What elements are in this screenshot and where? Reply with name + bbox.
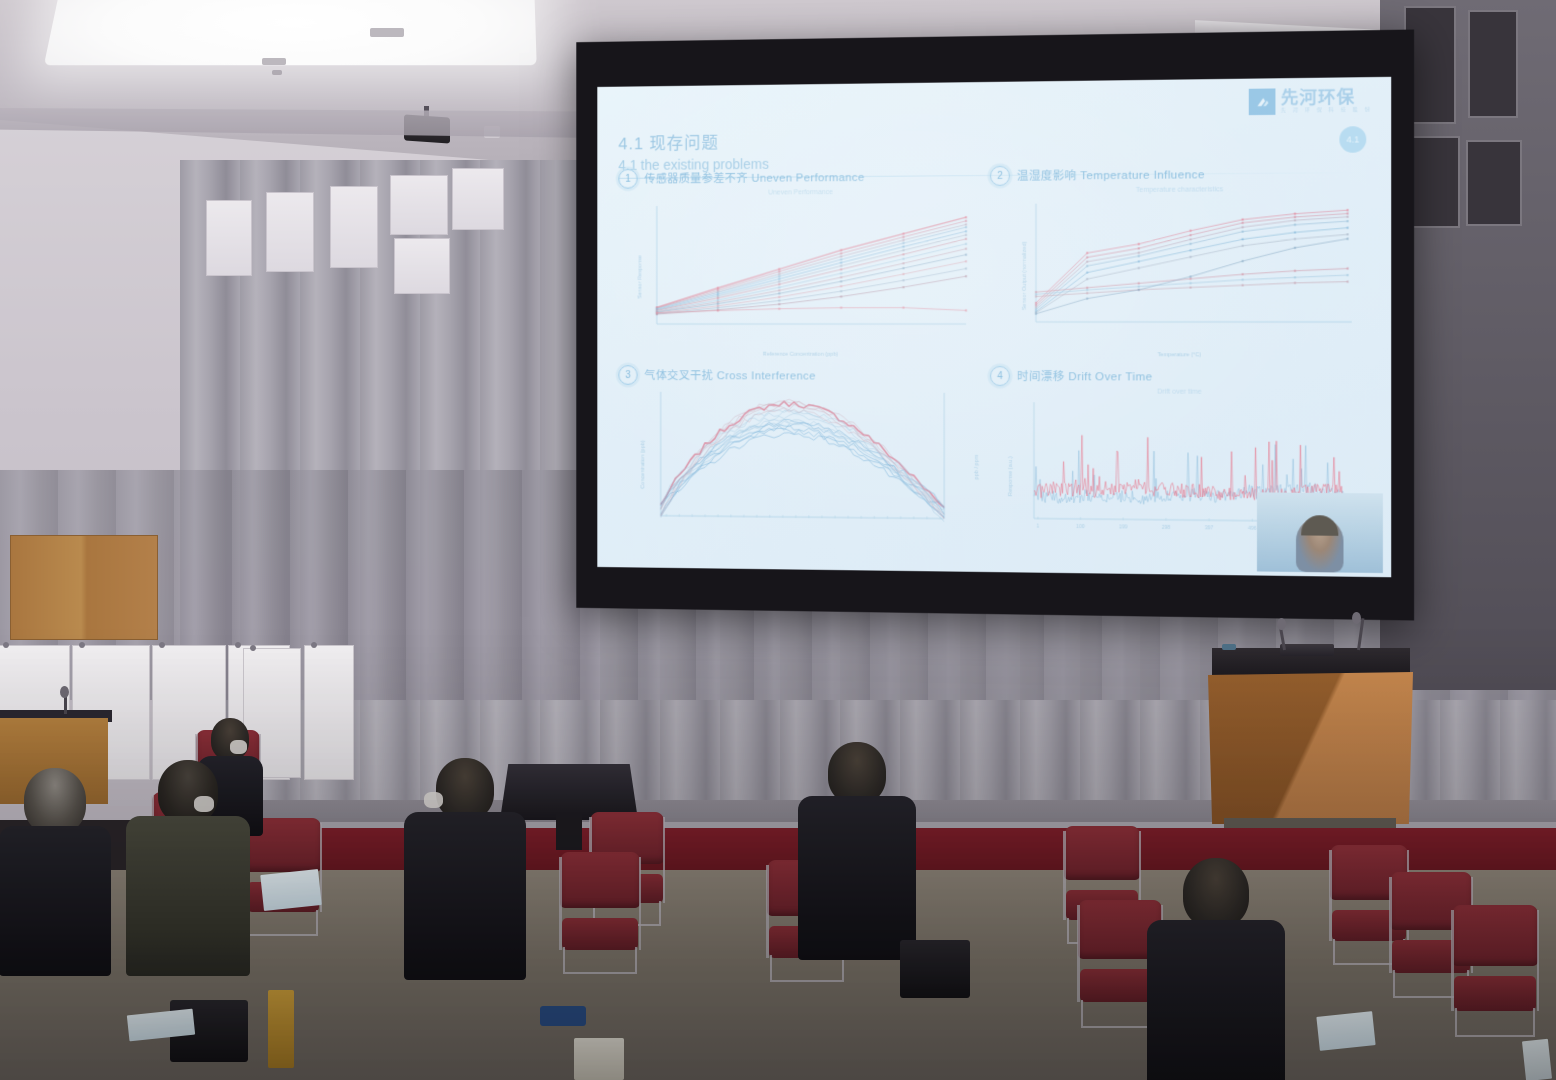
document-sheet [1316, 1011, 1375, 1051]
acoustic-panel [390, 175, 448, 235]
chart3-ylabel: Concentration (ppb) [640, 440, 646, 489]
cell-header: 4 时间漂移 Drift Over Time [990, 366, 1373, 387]
ceiling-vent [272, 70, 282, 75]
briefcase [900, 940, 970, 998]
cell-number-badge: 1 [618, 169, 637, 189]
projection-screen: 先河环保 先 河 环 保 科 技 股 份 4.1 4.1 现存问题 4.1 th… [576, 30, 1414, 621]
partition-screen [304, 645, 354, 780]
screen-surface: 先河环保 先 河 环 保 科 技 股 份 4.1 4.1 现存问题 4.1 th… [597, 77, 1391, 577]
presentation-slide: 先河环保 先 河 环 保 科 技 股 份 4.1 4.1 现存问题 4.1 th… [597, 77, 1391, 577]
audience-person [800, 742, 914, 954]
brand-mark-icon [1249, 88, 1276, 115]
audience-person [1150, 858, 1282, 1080]
video-person-hair [1301, 515, 1338, 536]
svg-text:199: 199 [1119, 524, 1128, 530]
acoustic-panel [452, 168, 504, 230]
wooden-door[interactable] [10, 535, 158, 640]
audience-person [128, 760, 248, 970]
chart4-ylabel: Response (a.u.) [1008, 456, 1014, 496]
scene-root: 先河环保 先 河 环 保 科 技 股 份 4.1 4.1 现存问题 4.1 th… [0, 0, 1556, 1080]
svg-text:496: 496 [1248, 526, 1257, 532]
ceiling-skylight [44, 0, 537, 65]
wall-niche [1466, 140, 1522, 226]
wooden-podium [1208, 672, 1413, 824]
svg-text:100: 100 [1076, 524, 1085, 530]
brand-logo-text: 先河环保 先 河 环 保 科 技 股 份 [1281, 88, 1373, 113]
brand-name-cn: 先河环保 [1281, 88, 1373, 106]
cell-header: 2 温湿度影响 Temperature Influence [990, 163, 1373, 186]
brand-name-sub: 先 河 环 保 科 技 股 份 [1281, 108, 1373, 114]
chart-cell-uneven-performance: 1 传感器质量参差不齐 Uneven Performance Uneven Pe… [618, 166, 986, 362]
audience-person [0, 768, 110, 968]
acoustic-panel [266, 192, 314, 272]
chart-temperature-influence: Temperature (°C) Sensor Output (normaliz… [990, 193, 1373, 356]
chart-cell-temperature-influence: 2 温湿度影响 Temperature Influence Temperatur… [990, 163, 1373, 363]
audience-person [406, 758, 524, 974]
wall-niche [1468, 10, 1518, 118]
ceiling-vent [370, 28, 404, 37]
chart2-xlabel: Temperature (°C) [1158, 352, 1202, 358]
cell-label: 传感器质量参差不齐 Uneven Performance [644, 169, 864, 187]
paper-bag [574, 1038, 624, 1080]
chart-cell-cross-interference: 3 气体交叉干扰 Cross Interference Con [618, 365, 986, 562]
cell-header: 1 传感器质量参差不齐 Uneven Performance [618, 166, 986, 189]
cell-header: 3 气体交叉干扰 Cross Interference [618, 365, 986, 386]
cell-label: 气体交叉干扰 Cross Interference [644, 367, 816, 383]
svg-text:1: 1 [1037, 523, 1040, 529]
document-sheet [260, 869, 321, 911]
cell-label: 时间漂移 Drift Over Time [1017, 368, 1152, 384]
brand-logo: 先河环保 先 河 环 保 科 技 股 份 [1249, 87, 1372, 115]
microphone-head-icon [1277, 618, 1286, 630]
chart2-ylabel: Sensor Output (normalized) [1022, 241, 1028, 310]
chart1-xlabel: Reference Concentration (ppb) [763, 352, 838, 358]
slide-title-cn: 4.1 现存问题 [618, 122, 1368, 154]
monitor-stand [556, 814, 582, 850]
podium-laptop [1280, 644, 1334, 656]
remote-speaker-video[interactable] [1257, 492, 1383, 573]
chair[interactable] [1452, 905, 1538, 1037]
acoustic-panel [330, 186, 378, 268]
shoe [540, 1006, 586, 1026]
ceiling-vent [262, 58, 286, 65]
podium-indicator [1222, 644, 1236, 650]
cell-label: 温湿度影响 Temperature Influence [1017, 166, 1205, 184]
chair[interactable] [560, 852, 640, 974]
cell-number-badge: 4 [990, 366, 1010, 386]
chart-uneven-performance: Reference Concentration (ppb) Sensor Res… [618, 196, 986, 356]
acoustic-panel [206, 200, 252, 276]
chart3-y2label: ppb / ppm [975, 454, 981, 479]
microphone-head-icon [1352, 612, 1361, 624]
chart-cross-interference: Concentration (ppb) ppb / ppm [618, 386, 986, 547]
cell-number-badge: 2 [990, 166, 1010, 186]
svg-text:298: 298 [1162, 525, 1171, 531]
acoustic-panel [394, 238, 450, 294]
water-bottle [1522, 1039, 1552, 1080]
podium-base [1224, 818, 1396, 828]
svg-text:397: 397 [1205, 525, 1214, 531]
cell-subtitle: Drift over time [990, 388, 1373, 396]
cell-number-badge: 3 [618, 365, 637, 385]
side-microphone-head-icon [60, 686, 69, 698]
paper-bag [268, 990, 294, 1068]
chart1-ylabel: Sensor Response [638, 255, 644, 299]
